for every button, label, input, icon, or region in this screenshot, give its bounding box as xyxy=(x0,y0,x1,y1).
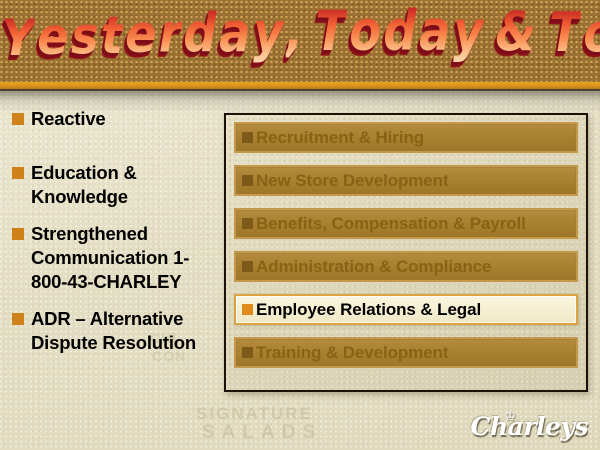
square-bullet-icon xyxy=(242,218,253,229)
title-char: e xyxy=(37,0,69,73)
slide-title: Yesterday,Today&Tomorrow xyxy=(0,2,600,82)
title-char: e xyxy=(125,0,157,72)
slide-title-text: Yesterday,Today&Tomorrow xyxy=(0,42,600,59)
square-bullet-icon xyxy=(12,167,24,179)
title-char: s xyxy=(71,0,99,73)
square-bullet-icon xyxy=(242,175,253,186)
background-watermark-salads: SALADS xyxy=(202,422,322,444)
title-char: y xyxy=(253,0,283,71)
header-band: Yesterday,Today&Tomorrow xyxy=(0,0,600,82)
list-item: Reactive xyxy=(12,107,217,131)
bullet-label: Reactive xyxy=(31,107,106,131)
panel-item-administration-compliance[interactable]: Administration & Compliance xyxy=(234,251,578,282)
square-bullet-icon xyxy=(12,313,24,325)
title-char: a xyxy=(219,0,250,71)
title-char: & xyxy=(496,0,537,71)
bullet-label: ADR – Alternative Dispute Resolution xyxy=(31,307,217,355)
title-char: o xyxy=(349,0,381,71)
panel-item-label: Recruitment & Hiring xyxy=(256,128,424,148)
category-panel: Recruitment & Hiring New Store Developme… xyxy=(224,113,588,392)
title-char: o xyxy=(583,0,600,72)
panel-item-new-store-development[interactable]: New Store Development xyxy=(234,165,578,196)
title-char: Y xyxy=(1,2,35,74)
square-bullet-icon xyxy=(242,261,253,272)
list-item: Education & Knowledge xyxy=(12,161,217,209)
title-char: , xyxy=(285,0,303,71)
panel-item-label: Benefits, Compensation & Payroll xyxy=(256,214,526,234)
title-char: y xyxy=(453,0,483,71)
panel-item-training-development[interactable]: Training & Development xyxy=(234,337,578,368)
panel-item-benefits-compensation-payroll[interactable]: Benefits, Compensation & Payroll xyxy=(234,208,578,239)
panel-item-label: New Store Development xyxy=(256,171,449,191)
charleys-logo: Charleys xyxy=(471,412,588,441)
slide-canvas: CHI CON SIGNATURE SALADS Yesterday,Today… xyxy=(0,0,600,450)
square-bullet-icon xyxy=(12,113,24,125)
title-char: a xyxy=(419,0,450,71)
panel-item-label: Training & Development xyxy=(256,343,448,363)
square-bullet-icon xyxy=(242,132,253,143)
title-char: r xyxy=(159,0,182,72)
list-item: Strengthened Communication 1-800-43-CHAR… xyxy=(12,222,217,294)
title-char: d xyxy=(383,0,416,71)
square-bullet-icon xyxy=(242,304,253,315)
header-accent-rule xyxy=(0,82,600,89)
list-item: ADR – Alternative Dispute Resolution xyxy=(12,307,217,355)
bullet-list: Reactive Education & Knowledge Strengthe… xyxy=(12,107,217,368)
bullet-label: Strengthened Communication 1-800-43-CHAR… xyxy=(31,222,217,294)
bullet-label: Education & Knowledge xyxy=(31,161,217,209)
panel-item-label: Administration & Compliance xyxy=(256,257,491,277)
title-char: d xyxy=(184,0,217,72)
title-char: T xyxy=(549,0,581,71)
title-char: t xyxy=(101,0,123,73)
square-bullet-icon xyxy=(12,228,24,240)
panel-item-employee-relations-legal[interactable]: Employee Relations & Legal xyxy=(234,294,578,325)
panel-item-label: Employee Relations & Legal xyxy=(256,300,481,320)
background-watermark-signature: SIGNATURE xyxy=(196,404,313,424)
panel-item-recruitment-hiring[interactable]: Recruitment & Hiring xyxy=(234,122,578,153)
title-char: T xyxy=(315,0,347,71)
square-bullet-icon xyxy=(242,347,253,358)
